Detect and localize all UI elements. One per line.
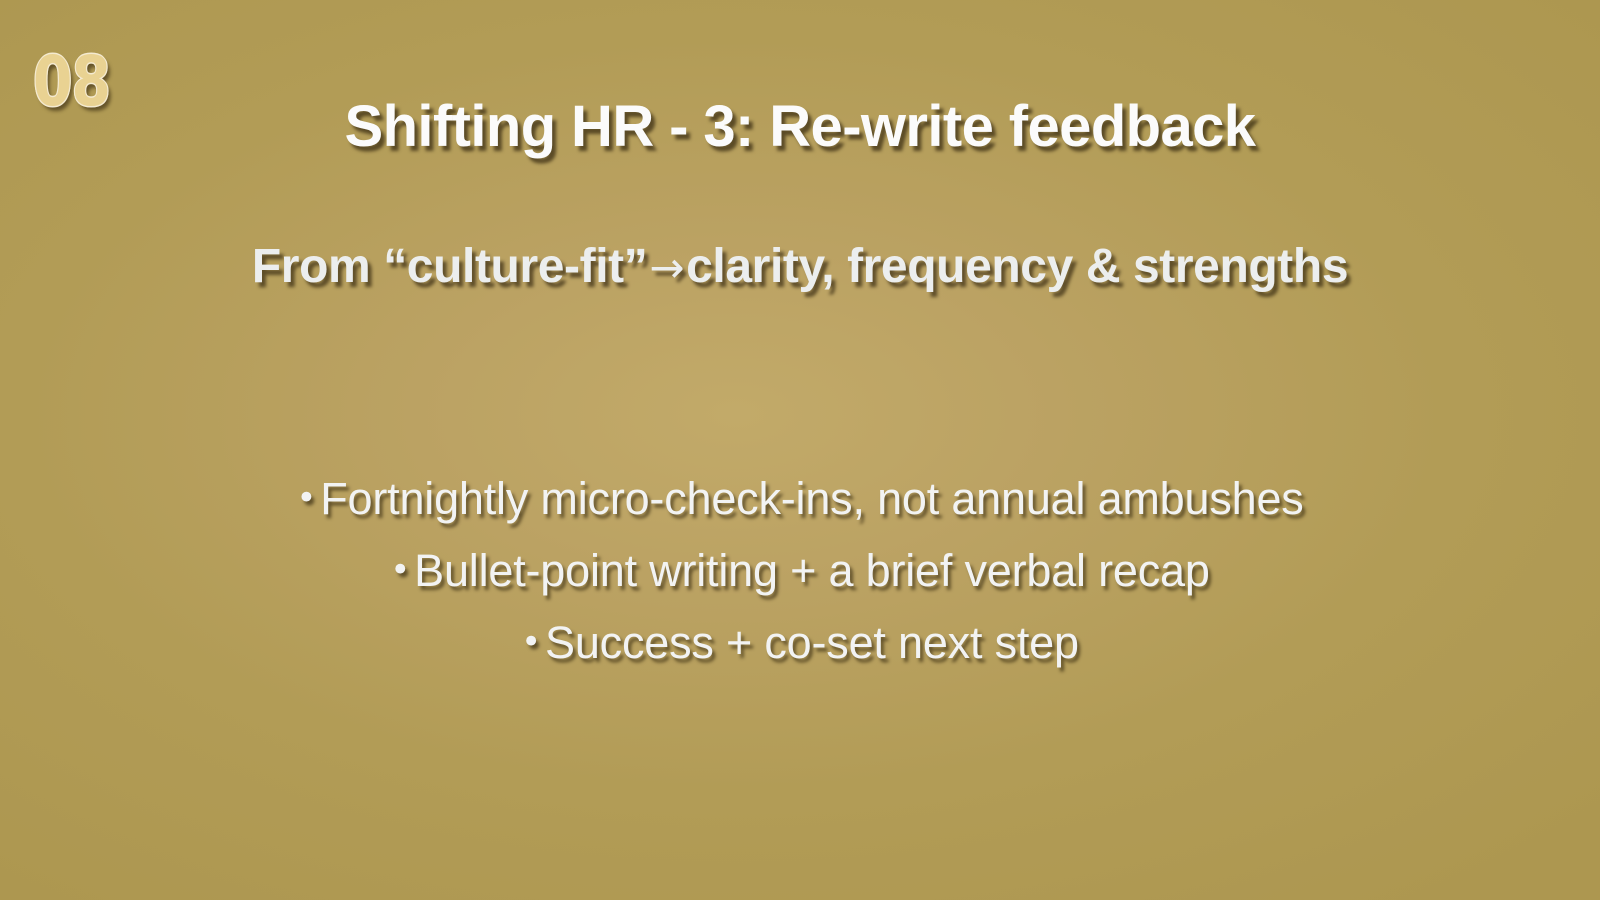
- slide-title: Shifting HR - 3: Re-write feedback: [0, 93, 1600, 160]
- list-item-label: Success + co-set next step: [545, 617, 1079, 668]
- list-item: •Fortnightly micro-check-ins, not annual…: [240, 468, 1360, 530]
- list-item-label: Fortnightly micro-check-ins, not annual …: [320, 473, 1303, 524]
- list-item: •Bullet-point writing + a brief verbal r…: [240, 540, 1360, 602]
- arrow-icon: →: [647, 243, 686, 292]
- bullet-dot-icon: •: [390, 550, 414, 590]
- slide-subtitle: From “culture-fit”→clarity, frequency & …: [185, 232, 1415, 303]
- list-item: •Success + co-set next step: [240, 612, 1360, 674]
- list-item-label: Bullet-point writing + a brief verbal re…: [414, 545, 1210, 596]
- bullet-dot-icon: •: [521, 622, 545, 662]
- bullet-list: •Fortnightly micro-check-ins, not annual…: [240, 468, 1360, 684]
- subtitle-before-arrow: From “culture-fit”: [252, 240, 647, 293]
- bullet-dot-icon: •: [296, 478, 320, 518]
- subtitle-after-arrow: clarity, frequency & strengths: [686, 240, 1348, 293]
- slide-canvas: 08 Shifting HR - 3: Re-write feedback Fr…: [0, 0, 1600, 900]
